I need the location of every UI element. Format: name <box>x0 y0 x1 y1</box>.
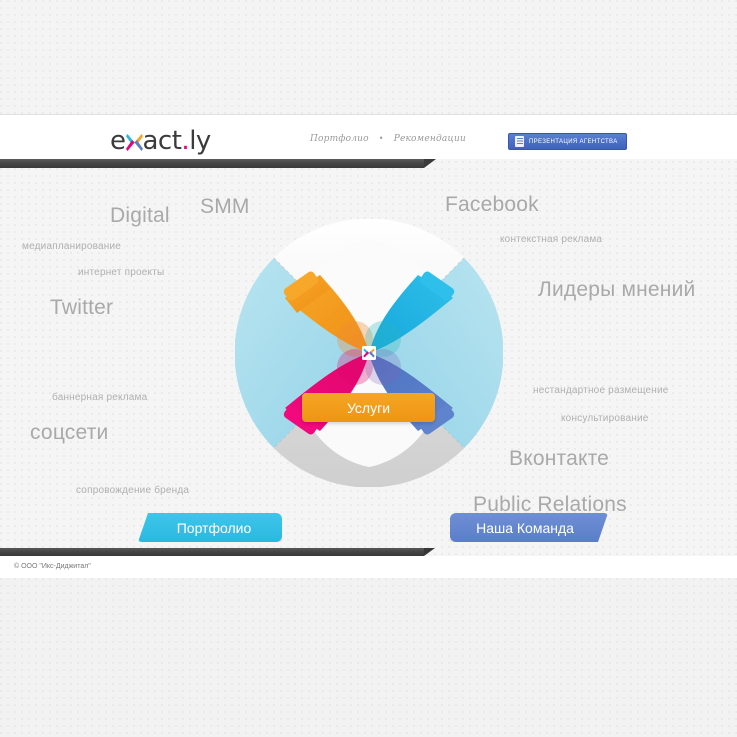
copyright-text: © ООО "Икс-Диджитал" <box>14 563 91 570</box>
presentation-button[interactable]: ПРЕЗЕНТАЦИЯ АГЕНТСТВА <box>508 133 627 150</box>
footer-ribbon-divider <box>0 548 424 556</box>
diagram-button-portfolio-label: Портфолио <box>177 520 252 536</box>
keyword-item: сопровождение бренда <box>76 485 189 496</box>
diagram-button-portfolio[interactable]: Портфолио <box>138 513 282 542</box>
keyword-item: контекстная реклама <box>500 234 602 245</box>
page-canvas: e act.ly Портфолио•Рекомендации ПРЕЗЕНТА… <box>0 0 737 737</box>
header-ribbon-divider <box>0 159 424 168</box>
nav-item-recommendations[interactable]: Рекомендации <box>394 134 466 144</box>
logo-text-prefix: e <box>110 126 126 156</box>
nav-item-portfolio[interactable]: Портфолио <box>310 134 369 144</box>
keyword-item: SMM <box>200 195 250 219</box>
logo-text-suffix: ly <box>189 126 211 156</box>
diagram-button-services-label: Услуги <box>347 400 390 416</box>
keyword-item: соцсети <box>30 421 108 445</box>
keyword-item: медиапланирование <box>22 241 121 252</box>
diagram-button-team[interactable]: Наша Команда <box>450 513 608 542</box>
keyword-item: интернет проекты <box>78 267 164 278</box>
top-background-strip <box>0 0 737 115</box>
site-footer <box>0 556 737 578</box>
circle-x-diagram <box>235 219 503 487</box>
diagram-button-services[interactable]: Услуги <box>302 393 435 422</box>
nav-separator: • <box>379 134 384 143</box>
logo-text-mid: act <box>143 126 182 156</box>
keyword-item: Digital <box>110 204 170 228</box>
keyword-item: Лидеры мнений <box>538 278 695 302</box>
document-icon <box>515 136 524 147</box>
diagram-center-mark <box>362 346 376 360</box>
keyword-item: Facebook <box>445 193 539 217</box>
main-navigation: Портфолио•Рекомендации <box>310 134 466 144</box>
keyword-item: Вконтакте <box>509 447 609 471</box>
below-page-background <box>0 578 737 737</box>
site-logo[interactable]: e act.ly <box>110 128 211 154</box>
main-stage: SMMDigitalмедиапланированиеинтернет прое… <box>0 168 737 548</box>
keyword-item: нестандартное размещение <box>533 385 669 396</box>
keyword-item: консультирование <box>561 413 649 424</box>
logo-x-mark <box>126 131 143 152</box>
diagram-svg <box>235 219 503 487</box>
keyword-item: баннерная реклама <box>52 392 147 403</box>
diagram-button-team-label: Наша Команда <box>476 520 574 536</box>
keyword-item: Twitter <box>50 296 113 320</box>
presentation-button-label: ПРЕЗЕНТАЦИЯ АГЕНТСТВА <box>529 139 618 145</box>
